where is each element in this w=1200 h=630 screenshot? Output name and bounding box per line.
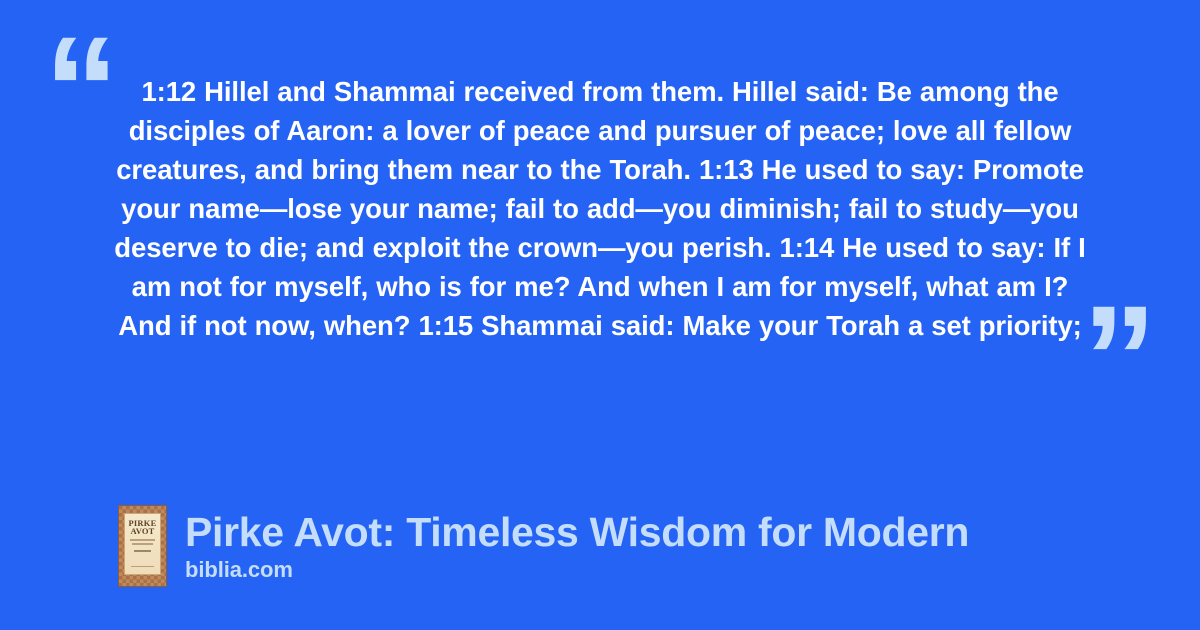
book-cover-title-line2: AVOT — [130, 527, 154, 535]
book-cover-thumbnail: PIRKE AVOT — [118, 505, 167, 587]
book-title: Pirke Avot: Timeless Wisdom for Modern — [185, 509, 969, 555]
book-cover-rule-2 — [132, 543, 154, 545]
book-cover-rule-1 — [130, 539, 156, 541]
book-cover-panel: PIRKE AVOT — [124, 513, 161, 575]
book-cover-rule-4 — [131, 566, 154, 567]
close-quotation-mark-icon: ” — [1082, 283, 1155, 433]
open-quotation-mark-icon: “ — [44, 14, 117, 164]
quote-text: 1:12 Hillel and Shammai received from th… — [108, 72, 1092, 345]
book-cover-rule-3 — [134, 550, 150, 552]
quote-block: 1:12 Hillel and Shammai received from th… — [108, 72, 1092, 402]
quote-card: “ 1:12 Hillel and Shammai received from … — [0, 0, 1200, 630]
attribution-footer: PIRKE AVOT Pirke Avot: Timeless Wisdom f… — [118, 505, 969, 587]
attribution-text: Pirke Avot: Timeless Wisdom for Modern b… — [185, 509, 969, 583]
source-site: biblia.com — [185, 557, 969, 583]
